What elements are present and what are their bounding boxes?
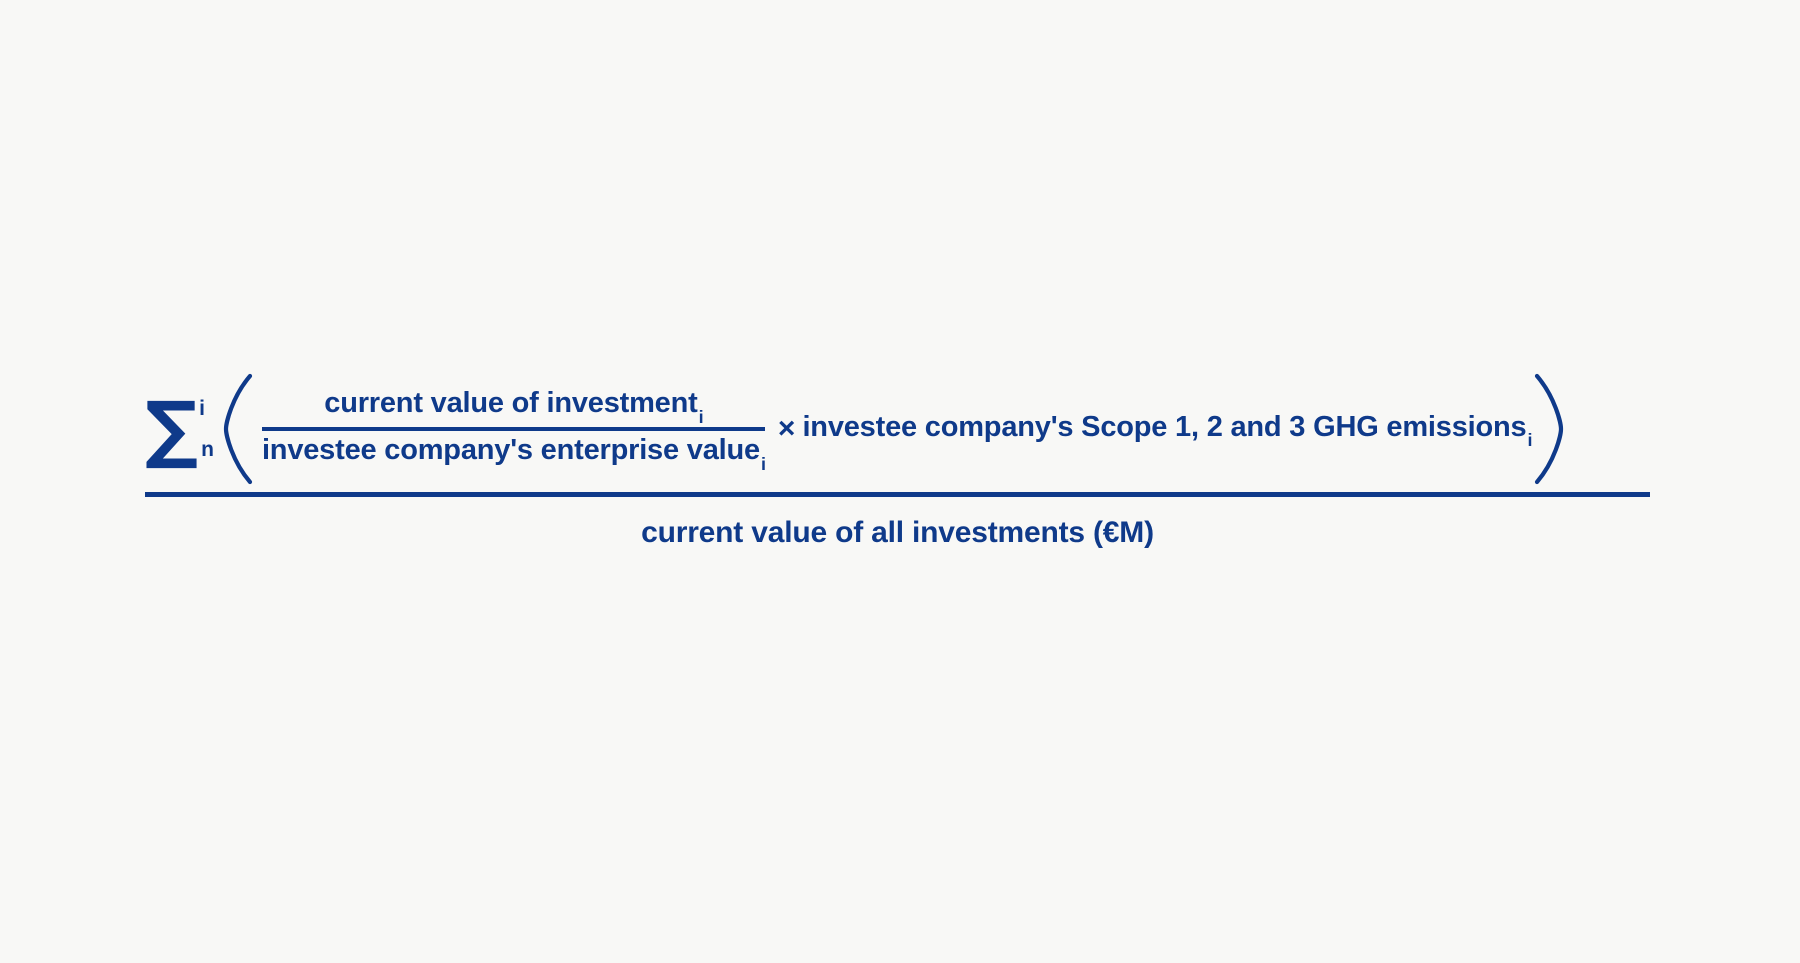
- summation-lower-limit: n: [199, 439, 214, 460]
- summation-limits: i n: [199, 397, 214, 461]
- financed-emissions-equation: ∑ i n current value of investmenti inves…: [145, 370, 1655, 550]
- equation-numerator: ∑ i n current value of investmenti inves…: [145, 370, 1655, 488]
- summation-upper-limit: i: [199, 398, 214, 419]
- inner-fraction-numerator: current value of investmenti: [324, 388, 702, 427]
- formula-diagram: ∑ i n current value of investmenti inves…: [0, 0, 1800, 963]
- inner-fraction: current value of investmenti investee co…: [262, 388, 765, 470]
- inner-fraction-numerator-subscript: i: [699, 407, 704, 427]
- equation-denominator: current value of all investments (€M): [145, 497, 1650, 550]
- right-hand-term: investee company's Scope 1, 2 and 3 GHG …: [802, 413, 1531, 446]
- sigma-icon: ∑: [145, 401, 198, 459]
- right-hand-term-text: investee company's Scope 1, 2 and 3 GHG …: [802, 411, 1526, 443]
- inner-fraction-denominator-subscript: i: [761, 454, 766, 474]
- multiplication-icon: ×: [778, 414, 796, 444]
- open-paren-icon: [222, 373, 256, 485]
- close-paren-icon: [1531, 373, 1565, 485]
- inner-fraction-denominator: investee company's enterprise valuei: [262, 431, 765, 470]
- inner-fraction-numerator-text: current value of investment: [324, 387, 697, 419]
- summation-operator: ∑ i n: [145, 397, 214, 461]
- inner-fraction-denominator-text: investee company's enterprise value: [262, 434, 760, 466]
